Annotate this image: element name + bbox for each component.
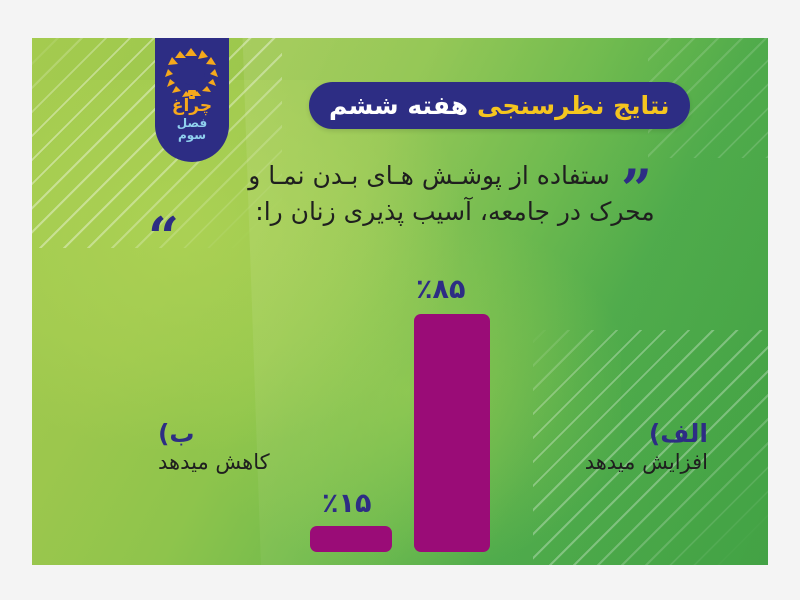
option-a-key: الف)	[585, 419, 708, 450]
title-highlight: نتایج نظرسنجی	[477, 93, 669, 118]
bar-value-option-b: ٪۱۵	[322, 490, 371, 517]
option-b-key: ب)	[158, 419, 270, 450]
logo-subtitle-line2: سوم	[178, 128, 206, 142]
poll-question-line-2: محرک در جامعه، آسیب پذیری زنان را:	[132, 194, 732, 230]
screenshot-canvas: چراغ فصل سوم نتایج نظرسنجی هفته ششم ” “ …	[0, 0, 800, 600]
bar-option-b	[310, 526, 392, 552]
poll-question: ستفاده از پوشـش هـای بـدن نمـا و محرک در…	[132, 158, 732, 231]
lightbulb-icon	[164, 46, 220, 100]
title-banner: نتایج نظرسنجی هفته ششم	[309, 82, 690, 129]
poll-question-line-1: ستفاده از پوشـش هـای بـدن نمـا و	[132, 158, 732, 194]
logo-subtitle: فصل سوم	[177, 117, 207, 141]
option-a-label: الف) افزایش میدهد	[585, 419, 708, 475]
bar-value-option-a: ٪۸۵	[416, 276, 465, 303]
bar-option-a	[414, 314, 490, 552]
infographic-poster: چراغ فصل سوم نتایج نظرسنجی هفته ششم ” “ …	[32, 38, 768, 565]
option-a-text: افزایش میدهد	[585, 450, 708, 476]
brand-logo-badge: چراغ فصل سوم	[155, 38, 229, 162]
option-b-label: ب) کاهش میدهد	[158, 419, 270, 475]
title-rest: هفته ششم	[329, 93, 468, 118]
logo-wordmark: چراغ	[172, 98, 212, 115]
option-b-text: کاهش میدهد	[158, 450, 270, 476]
